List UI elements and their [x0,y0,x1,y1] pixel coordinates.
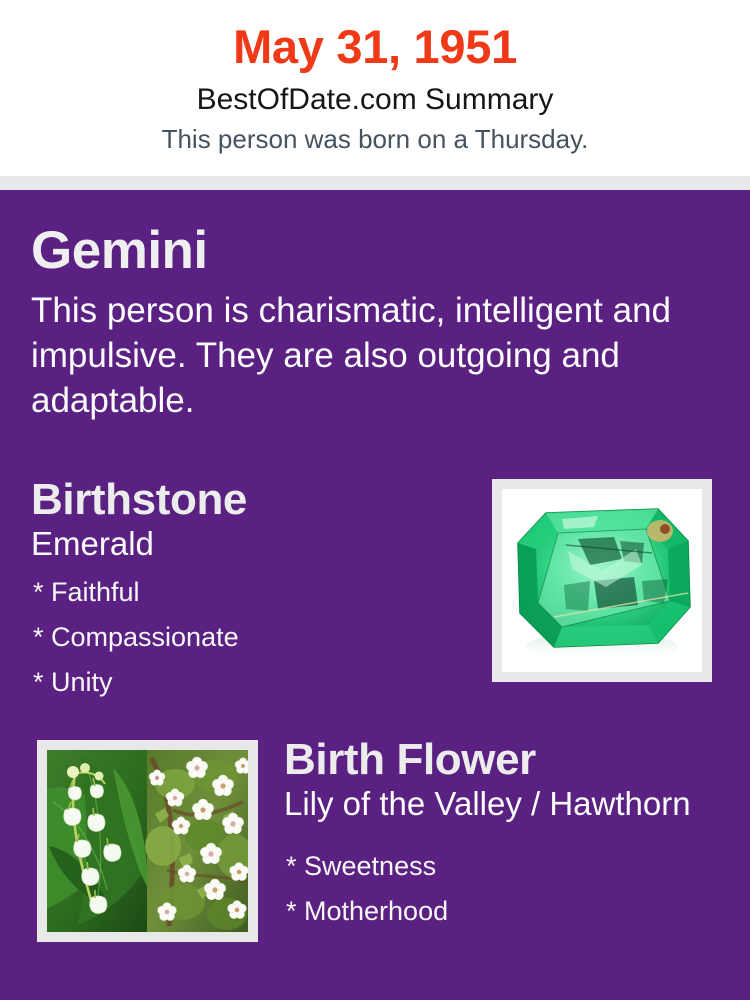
zodiac-description: This person is charismatic, intelligent … [31,277,719,423]
birthstone-trait-list: * Faithful * Compassionate * Unity [31,562,481,704]
emerald-gemstone-icon [502,489,702,672]
birth-flower-image [47,750,248,932]
hawthorn-panel [145,750,248,932]
site-summary-label: BestOfDate.com Summary [0,71,750,116]
lily-of-the-valley-panel [47,750,148,932]
list-item: * Sweetness [286,844,734,889]
lily-of-the-valley-hawthorn-icon [47,750,248,932]
zodiac-sign-name: Gemini [31,224,719,277]
header-divider [0,176,750,190]
list-item: * Compassionate [33,615,481,660]
list-item: * Unity [33,660,481,705]
birthstone-image-frame [492,479,712,682]
birth-flower-trait-list: * Sweetness * Motherhood [284,822,734,934]
list-item: * Motherhood [286,889,734,934]
list-item: * Faithful [33,570,481,615]
birthstone-section: Birthstone Emerald * Faithful * Compassi… [31,477,481,705]
birth-flower-heading: Birth Flower [284,737,734,783]
born-day-note: This person was born on a Thursday. [0,116,750,154]
birth-flower-name: Lily of the Valley / Hawthorn [284,783,734,822]
birthstone-name: Emerald [31,523,481,562]
birthstone-image [502,489,702,672]
birthstone-heading: Birthstone [31,477,481,523]
zodiac-section: Gemini This person is charismatic, intel… [31,224,719,423]
header-banner: May 31, 1951 BestOfDate.com Summary This… [0,0,750,176]
page-title-date: May 31, 1951 [0,0,750,71]
birth-flower-section: Birth Flower Lily of the Valley / Hawtho… [284,737,734,934]
birth-flower-image-frame [37,740,258,942]
